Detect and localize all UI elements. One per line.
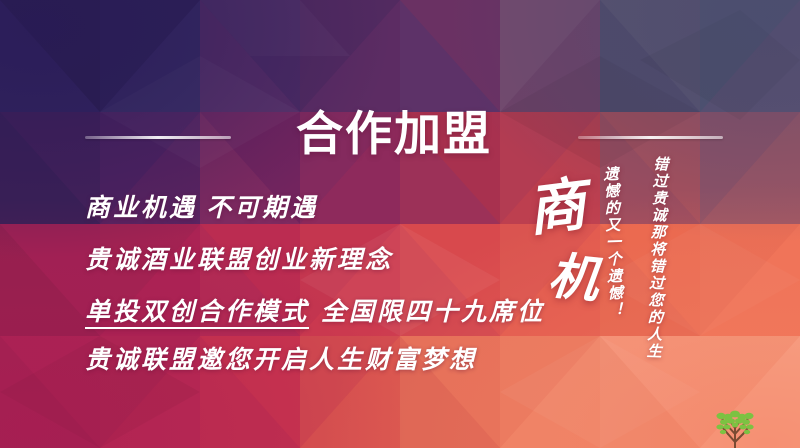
body-line-3-underlined: 单投双创合作模式 [85,299,309,326]
decor-rule-left [85,136,231,139]
background-polygons [0,0,800,448]
body-line-2: 贵诚酒业联盟创业新理念 [85,240,393,276]
calligraphy-seal: 商 机 [521,160,601,320]
page-title: 合作加盟 [296,110,492,157]
seal-char-2: 机 [545,236,602,313]
low-poly-background [0,0,800,448]
poster-canvas: 合作加盟 商业机遇 不可期遇 贵诚酒业联盟创业新理念 单投双创合作模式全国限四十… [0,0,800,448]
body-line-4: 贵诚联盟邀您开启人生财富梦想 [85,340,477,376]
decor-rule-right [578,136,723,139]
body-line-3: 单投双创合作模式全国限四十九席位 [85,292,545,328]
tree-icon [690,404,780,448]
seal-char-1: 商 [522,157,590,247]
body-line-1: 商业机遇 不可期遇 [85,188,318,224]
body-line-3-rest: 全国限四十九席位 [321,299,545,326]
